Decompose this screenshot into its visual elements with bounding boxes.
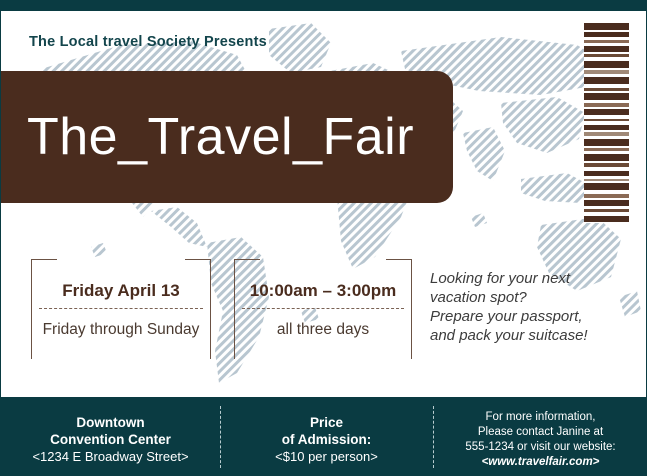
venue-name-line-2: Convention Center <box>1 431 220 448</box>
footer-price: Price of Admission: <$10 per person> <box>220 397 433 476</box>
box-cap-right <box>386 259 412 260</box>
tagline-block: Looking for your next vacation spot? Pre… <box>430 269 635 345</box>
box-rail-left <box>234 259 235 359</box>
contact-website[interactable]: <www.travelfair.com> <box>433 455 647 470</box>
box-divider <box>242 308 404 309</box>
barcode-bar <box>584 216 629 222</box>
event-date-range: Friday through Sunday <box>31 321 211 339</box>
box-rail-left <box>31 259 32 359</box>
title-banner: The_Travel_Fair <box>1 71 453 203</box>
box-cap-left <box>234 259 260 260</box>
tagline-line-4: and pack your suitcase! <box>430 326 635 345</box>
footer-venue: Downtown Convention Center <1234 E Broad… <box>1 397 220 476</box>
barcode-bar <box>584 61 629 68</box>
detail-box-time: 10:00am – 3:00pm all three days <box>234 259 412 359</box>
ticket-card: The Local travel Society Presents The_Tr… <box>0 0 647 476</box>
footer-bar: Downtown Convention Center <1234 E Broad… <box>1 397 647 476</box>
contact-line-2: Please contact Janine at <box>433 425 647 440</box>
box-divider <box>39 308 203 309</box>
event-hours: 10:00am – 3:00pm <box>234 281 412 301</box>
barcode <box>584 23 629 223</box>
contact-line-3: 555-1234 or visit our website: <box>433 440 647 455</box>
tagline-line-3: Prepare your passport, <box>430 307 635 326</box>
contact-line-1: For more information, <box>433 410 647 425</box>
event-details-row: Friday April 13 Friday through Sunday 10… <box>1 259 647 369</box>
tagline-line-2: vacation spot? <box>430 288 635 307</box>
barcode-bar <box>584 183 629 190</box>
tagline-line-1: Looking for your next <box>430 269 635 288</box>
venue-name-line-1: Downtown <box>1 414 220 431</box>
barcode-bar <box>584 23 629 30</box>
price-amount: <$10 per person> <box>220 448 433 465</box>
event-title: The_Travel_Fair <box>27 107 414 167</box>
event-date: Friday April 13 <box>31 281 211 301</box>
box-cap-left <box>31 259 57 260</box>
box-rail-right <box>411 259 412 359</box>
barcode-bar <box>584 93 629 100</box>
box-rail-right <box>210 259 211 359</box>
venue-address: <1234 E Broadway Street> <box>1 448 220 465</box>
event-hours-note: all three days <box>234 321 412 339</box>
footer-contact: For more information, Please contact Jan… <box>433 397 647 476</box>
barcode-bar <box>584 139 629 146</box>
top-accent-bar <box>1 1 647 11</box>
detail-box-date: Friday April 13 Friday through Sunday <box>31 259 211 359</box>
presenter-line: The Local travel Society Presents <box>29 34 267 50</box>
price-label-line-2: of Admission: <box>220 431 433 448</box>
box-cap-right <box>185 259 211 260</box>
price-label-line-1: Price <box>220 414 433 431</box>
